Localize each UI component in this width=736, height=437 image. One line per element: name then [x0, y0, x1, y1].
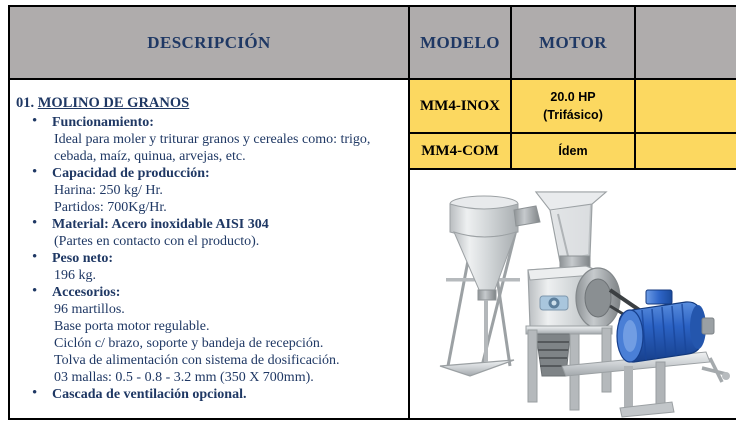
product-number: 01.	[16, 95, 34, 111]
list-item: Material: Acero inoxidable AISI 304 (Par…	[32, 216, 408, 250]
spec-bullet-list: Funcionamiento: Ideal para moler y tritu…	[10, 114, 408, 403]
bullet-line: (Partes en contacto con el producto).	[54, 233, 408, 250]
cell-modelo-inox: MM4-INOX	[409, 79, 511, 133]
list-item: Cascada de ventilación opcional.	[32, 386, 408, 403]
bullet-label: Accesorios:	[52, 284, 408, 301]
bearing-block	[540, 296, 568, 310]
product-name: MOLINO DE GRANOS	[38, 95, 189, 111]
bullet-line: cebada, maíz, quinua, arvejas, etc.	[54, 148, 408, 165]
bullet-label: Capacidad de producción:	[52, 165, 408, 182]
page-title: 01. MOLINO DE GRANOS	[16, 95, 408, 112]
product-spec-table: DESCRIPCIÓN MODELO MOTOR 01. MOLINO DE G	[8, 5, 736, 420]
product-photo	[410, 170, 736, 418]
bullet-label: Material: Acero inoxidable AISI 304	[52, 216, 408, 233]
bullet-line: 96 martillos.	[54, 301, 408, 318]
bullet-line: Ideal para moler y triturar granos y cer…	[54, 131, 408, 148]
modelo-value: MM4-COM	[421, 143, 498, 159]
cell-extra-com	[635, 133, 736, 169]
spec-sheet-page: DESCRIPCIÓN MODELO MOTOR 01. MOLINO DE G	[0, 0, 736, 437]
header-motor-label: MOTOR	[539, 33, 607, 52]
bullet-line: Partidos: 700Kg/Hr.	[54, 199, 408, 216]
cell-extra-inox	[635, 79, 736, 133]
header-cell-motor: MOTOR	[511, 6, 635, 79]
motor-phase-value: (Trifásico)	[543, 108, 603, 122]
bullet-line: Ciclón c/ brazo, soporte y bandeja de re…	[54, 335, 408, 352]
cell-motor-inox: 20.0 HP (Trifásico)	[511, 79, 635, 133]
table-row: 01. MOLINO DE GRANOS Funcionamiento: Ide…	[9, 79, 736, 133]
bullet-label: Cascada de ventilación opcional.	[52, 386, 408, 403]
bullet-line: Tolva de alimentación con sistema de dos…	[54, 352, 408, 369]
modelo-value: MM4-INOX	[420, 98, 500, 114]
bullet-label: Peso neto:	[52, 250, 408, 267]
list-item: Capacidad de producción: Harina: 250 kg/…	[32, 165, 408, 216]
cell-modelo-com: MM4-COM	[409, 133, 511, 169]
motor-power-value: 20.0 HP	[550, 90, 595, 104]
header-modelo-label: MODELO	[420, 33, 500, 52]
bullet-line: Harina: 250 kg/ Hr.	[54, 182, 408, 199]
header-cell-modelo: MODELO	[409, 6, 511, 79]
header-cell-blank	[635, 6, 736, 79]
grain-mill-illustration	[410, 170, 736, 418]
table-header-row: DESCRIPCIÓN MODELO MOTOR	[9, 6, 736, 79]
header-cell-descripcion: DESCRIPCIÓN	[9, 6, 409, 79]
bullet-line: 03 mallas: 0.5 - 0.8 - 3.2 mm (350 X 700…	[54, 369, 408, 386]
bullet-line: 196 kg.	[54, 267, 408, 284]
motor-power-value: Ídem	[558, 144, 587, 158]
header-descripcion-label: DESCRIPCIÓN	[147, 33, 270, 52]
description-cell: 01. MOLINO DE GRANOS Funcionamiento: Ide…	[9, 79, 409, 419]
cell-motor-com: Ídem	[511, 133, 635, 169]
bullet-label: Funcionamiento:	[52, 114, 408, 131]
list-item: Peso neto: 196 kg.	[32, 250, 408, 284]
list-item: Accesorios: 96 martillos. Base porta mot…	[32, 284, 408, 386]
list-item: Funcionamiento: Ideal para moler y tritu…	[32, 114, 408, 165]
product-photo-cell	[409, 169, 736, 419]
bullet-line: Base porta motor regulable.	[54, 318, 408, 335]
